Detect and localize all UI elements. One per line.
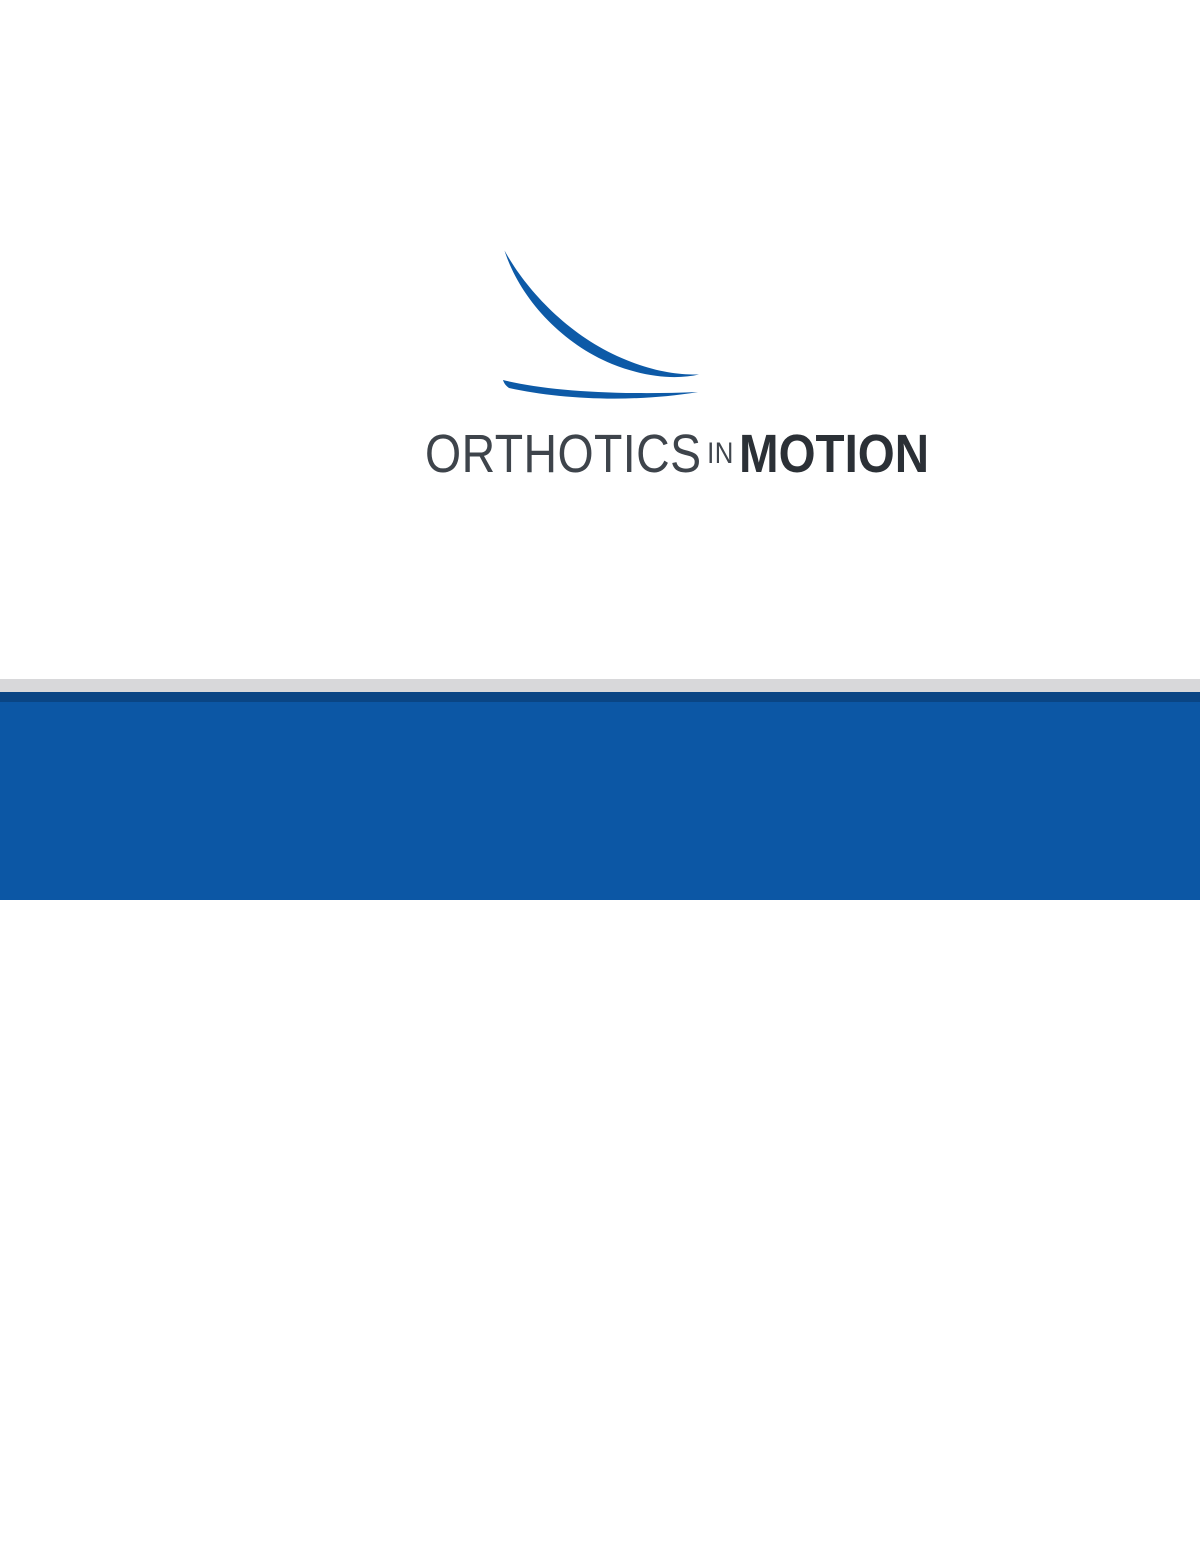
swoosh-curve-mark-icon [485,240,715,405]
footer-wordmark-in: IN [1069,1522,1082,1546]
footer-wordmark-motion: MOTION [1083,1523,1158,1547]
primary-logo-stage: ORTHOTICSINMOTION [0,0,1200,679]
wordmark-in: IN [704,425,736,483]
footer-wordmark-orthotics: ORTHOTICS [960,1523,1067,1547]
primary-logo-lockup: ORTHOTICSINMOTION [380,240,820,490]
footer-logo-lockup: ORTHOTICSINMOTION [940,1447,1140,1562]
logo-presentation-canvas: ORTHOTICSINMOTION ORTHOTICSINMOTION [0,0,1200,900]
primary-wordmark: ORTHOTICSINMOTION [380,425,820,485]
footer-blue-band: ORTHOTICSINMOTION [0,702,1200,900]
divider-gray-strip [0,679,1200,692]
wordmark-motion: MOTION [739,425,929,483]
wordmark-orthotics: ORTHOTICS [425,425,702,483]
footer-wordmark: ORTHOTICSINMOTION [940,1523,1140,1549]
divider-dark-blue-strip [0,692,1200,702]
swoosh-curve-mark-white-icon [985,1447,1090,1519]
